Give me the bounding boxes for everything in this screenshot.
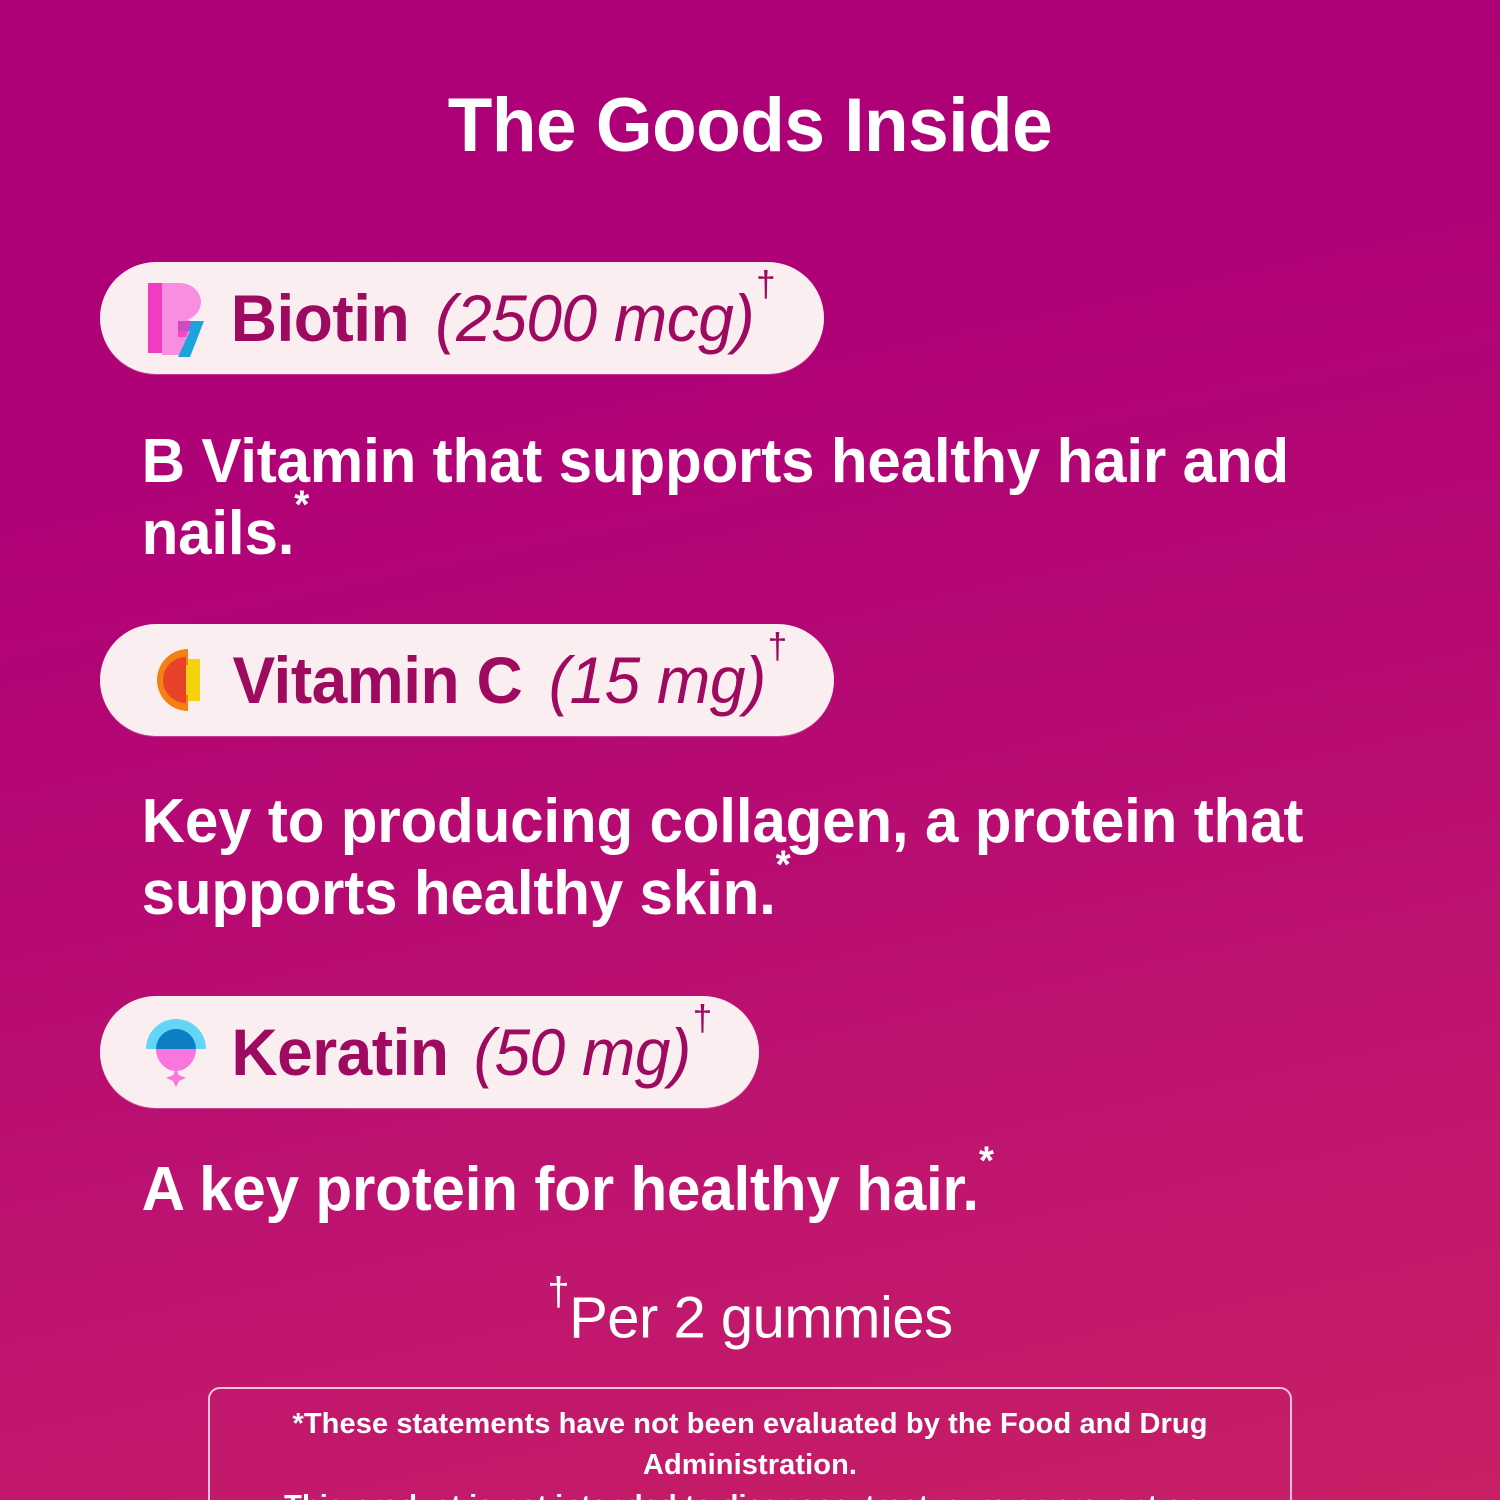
ingredient-dose-biotin: (2500 mcg)† [435,285,775,351]
vitamin-c-citrus-icon [140,641,212,719]
ingredient-block-keratin: Keratin (50 mg)† A key protein for healt… [0,996,1500,1226]
keratin-droplet-sparkle-icon [140,1013,212,1091]
ingredient-pill-keratin[interactable]: Keratin (50 mg)† [100,996,759,1108]
ingredient-name-keratin: Keratin [231,1019,448,1085]
disclaimer-line-2: This product is not intended to diagnose… [228,1486,1272,1500]
asterisk-symbol: * [979,1139,994,1183]
ingredient-description-vitamin-c: Key to producing collagen, a protein tha… [0,736,1335,930]
biotin-b7-icon [140,279,212,357]
ingredient-pill-text-vitamin-c: Vitamin C (15 mg)† [228,647,790,713]
ingredient-block-biotin: Biotin (2500 mcg)† B Vitamin that suppor… [0,262,1500,570]
disclaimer-line-1: *These statements have not been evaluate… [228,1404,1272,1486]
per-serving-text: Per 2 gummies [569,1285,953,1350]
asterisk-symbol: * [776,843,791,887]
description-line-1: A key protein for healthy hair. [142,1155,979,1224]
description-line-1: Key to producing collagen, a protein [142,787,1178,856]
ingredient-dose-keratin: (50 mg)† [474,1019,712,1085]
ingredient-description-biotin: B Vitamin that supports healthy hair and… [0,374,1335,570]
dagger-symbol: † [693,997,712,1038]
product-infographic: The Goods Inside Biotin (2500 mcg) [0,0,1500,1500]
ingredient-pill-text-keratin: Keratin (50 mg)† [228,1019,715,1085]
ingredient-dose-vitamin-c: (15 mg)† [548,647,786,713]
ingredient-pill-biotin[interactable]: Biotin (2500 mcg)† [100,262,824,374]
ingredient-block-vitamin-c: Vitamin C (15 mg)† Key to producing coll… [0,624,1500,930]
fda-disclaimer-box: *These statements have not been evaluate… [208,1387,1292,1500]
ingredient-name-biotin: Biotin [231,285,409,351]
dagger-symbol: † [767,625,786,666]
ingredient-name-vitamin-c: Vitamin C [232,647,522,713]
asterisk-symbol: * [294,483,309,527]
ingredient-pill-vitamin-c[interactable]: Vitamin C (15 mg)† [100,624,834,736]
per-serving-footnote: †Per 2 gummies [0,1282,1500,1350]
dagger-symbol: † [756,263,775,304]
page-title: The Goods Inside [30,86,1470,166]
ingredient-description-keratin: A key protein for healthy hair.* [0,1108,1335,1226]
dagger-symbol: † [547,1270,569,1314]
ingredient-pill-text-biotin: Biotin (2500 mcg)† [228,285,780,351]
